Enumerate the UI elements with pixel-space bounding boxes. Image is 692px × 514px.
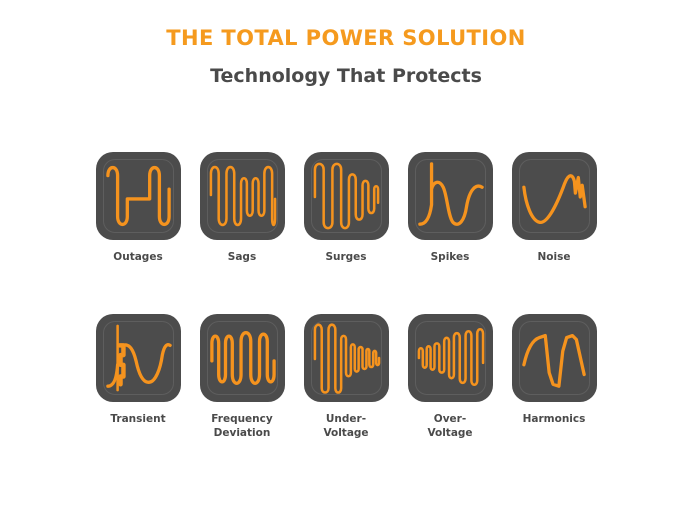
waveform-over-voltage-icon: [416, 322, 485, 394]
tile-over-voltage[interactable]: [408, 314, 493, 402]
tile-inner-border: [311, 321, 382, 395]
caption-transient: Transient: [90, 412, 186, 426]
caption-outages: Outages: [90, 250, 186, 264]
tile-inner-border: [207, 321, 278, 395]
waveform-surges-icon: [312, 160, 381, 232]
tile-inner-border: [207, 159, 278, 233]
tile-inner-border: [103, 159, 174, 233]
grid-cell-outages[interactable]: Outages: [86, 152, 190, 264]
tile-outages[interactable]: [96, 152, 181, 240]
tile-inner-border: [519, 159, 590, 233]
waveform-under-voltage-icon: [312, 322, 381, 394]
caption-noise: Noise: [506, 250, 602, 264]
caption-under-voltage: Under- Voltage: [298, 412, 394, 440]
tile-surges[interactable]: [304, 152, 389, 240]
heading-block: THE TOTAL POWER SOLUTION Technology That…: [0, 26, 692, 88]
icon-row-1: Outages Sags: [86, 152, 606, 264]
page-title: THE TOTAL POWER SOLUTION: [0, 26, 692, 51]
grid-cell-frequency-deviation[interactable]: Frequency Deviation: [190, 314, 294, 440]
grid-cell-sags[interactable]: Sags: [190, 152, 294, 264]
caption-spikes: Spikes: [402, 250, 498, 264]
grid-cell-under-voltage[interactable]: Under- Voltage: [294, 314, 398, 440]
tile-spikes[interactable]: [408, 152, 493, 240]
grid-cell-harmonics[interactable]: Harmonics: [502, 314, 606, 426]
tile-frequency-deviation[interactable]: [200, 314, 285, 402]
tile-sags[interactable]: [200, 152, 285, 240]
icon-grid: Outages Sags: [86, 152, 606, 441]
tile-harmonics[interactable]: [512, 314, 597, 402]
power-quality-infographic: THE TOTAL POWER SOLUTION Technology That…: [0, 0, 692, 514]
page-subtitle: Technology That Protects: [0, 65, 692, 88]
grid-cell-surges[interactable]: Surges: [294, 152, 398, 264]
tile-transient[interactable]: [96, 314, 181, 402]
waveform-harmonics-icon: [520, 322, 589, 394]
icon-row-2: Transient Frequency Deviation: [86, 314, 606, 440]
caption-sags: Sags: [194, 250, 290, 264]
waveform-outages-icon: [104, 160, 173, 232]
caption-harmonics: Harmonics: [506, 412, 602, 426]
waveform-spikes-icon: [416, 160, 485, 232]
grid-cell-spikes[interactable]: Spikes: [398, 152, 502, 264]
grid-cell-transient[interactable]: Transient: [86, 314, 190, 426]
tile-inner-border: [519, 321, 590, 395]
caption-over-voltage: Over- Voltage: [402, 412, 498, 440]
grid-cell-over-voltage[interactable]: Over- Voltage: [398, 314, 502, 440]
caption-frequency-deviation: Frequency Deviation: [194, 412, 290, 440]
tile-inner-border: [415, 321, 486, 395]
tile-under-voltage[interactable]: [304, 314, 389, 402]
tile-inner-border: [103, 321, 174, 395]
waveform-noise-icon: [520, 160, 589, 232]
waveform-transient-icon: [104, 322, 173, 394]
tile-inner-border: [415, 159, 486, 233]
caption-surges: Surges: [298, 250, 394, 264]
waveform-sags-icon: [208, 160, 277, 232]
grid-cell-noise[interactable]: Noise: [502, 152, 606, 264]
waveform-frequency-deviation-icon: [208, 322, 277, 394]
tile-inner-border: [311, 159, 382, 233]
tile-noise[interactable]: [512, 152, 597, 240]
